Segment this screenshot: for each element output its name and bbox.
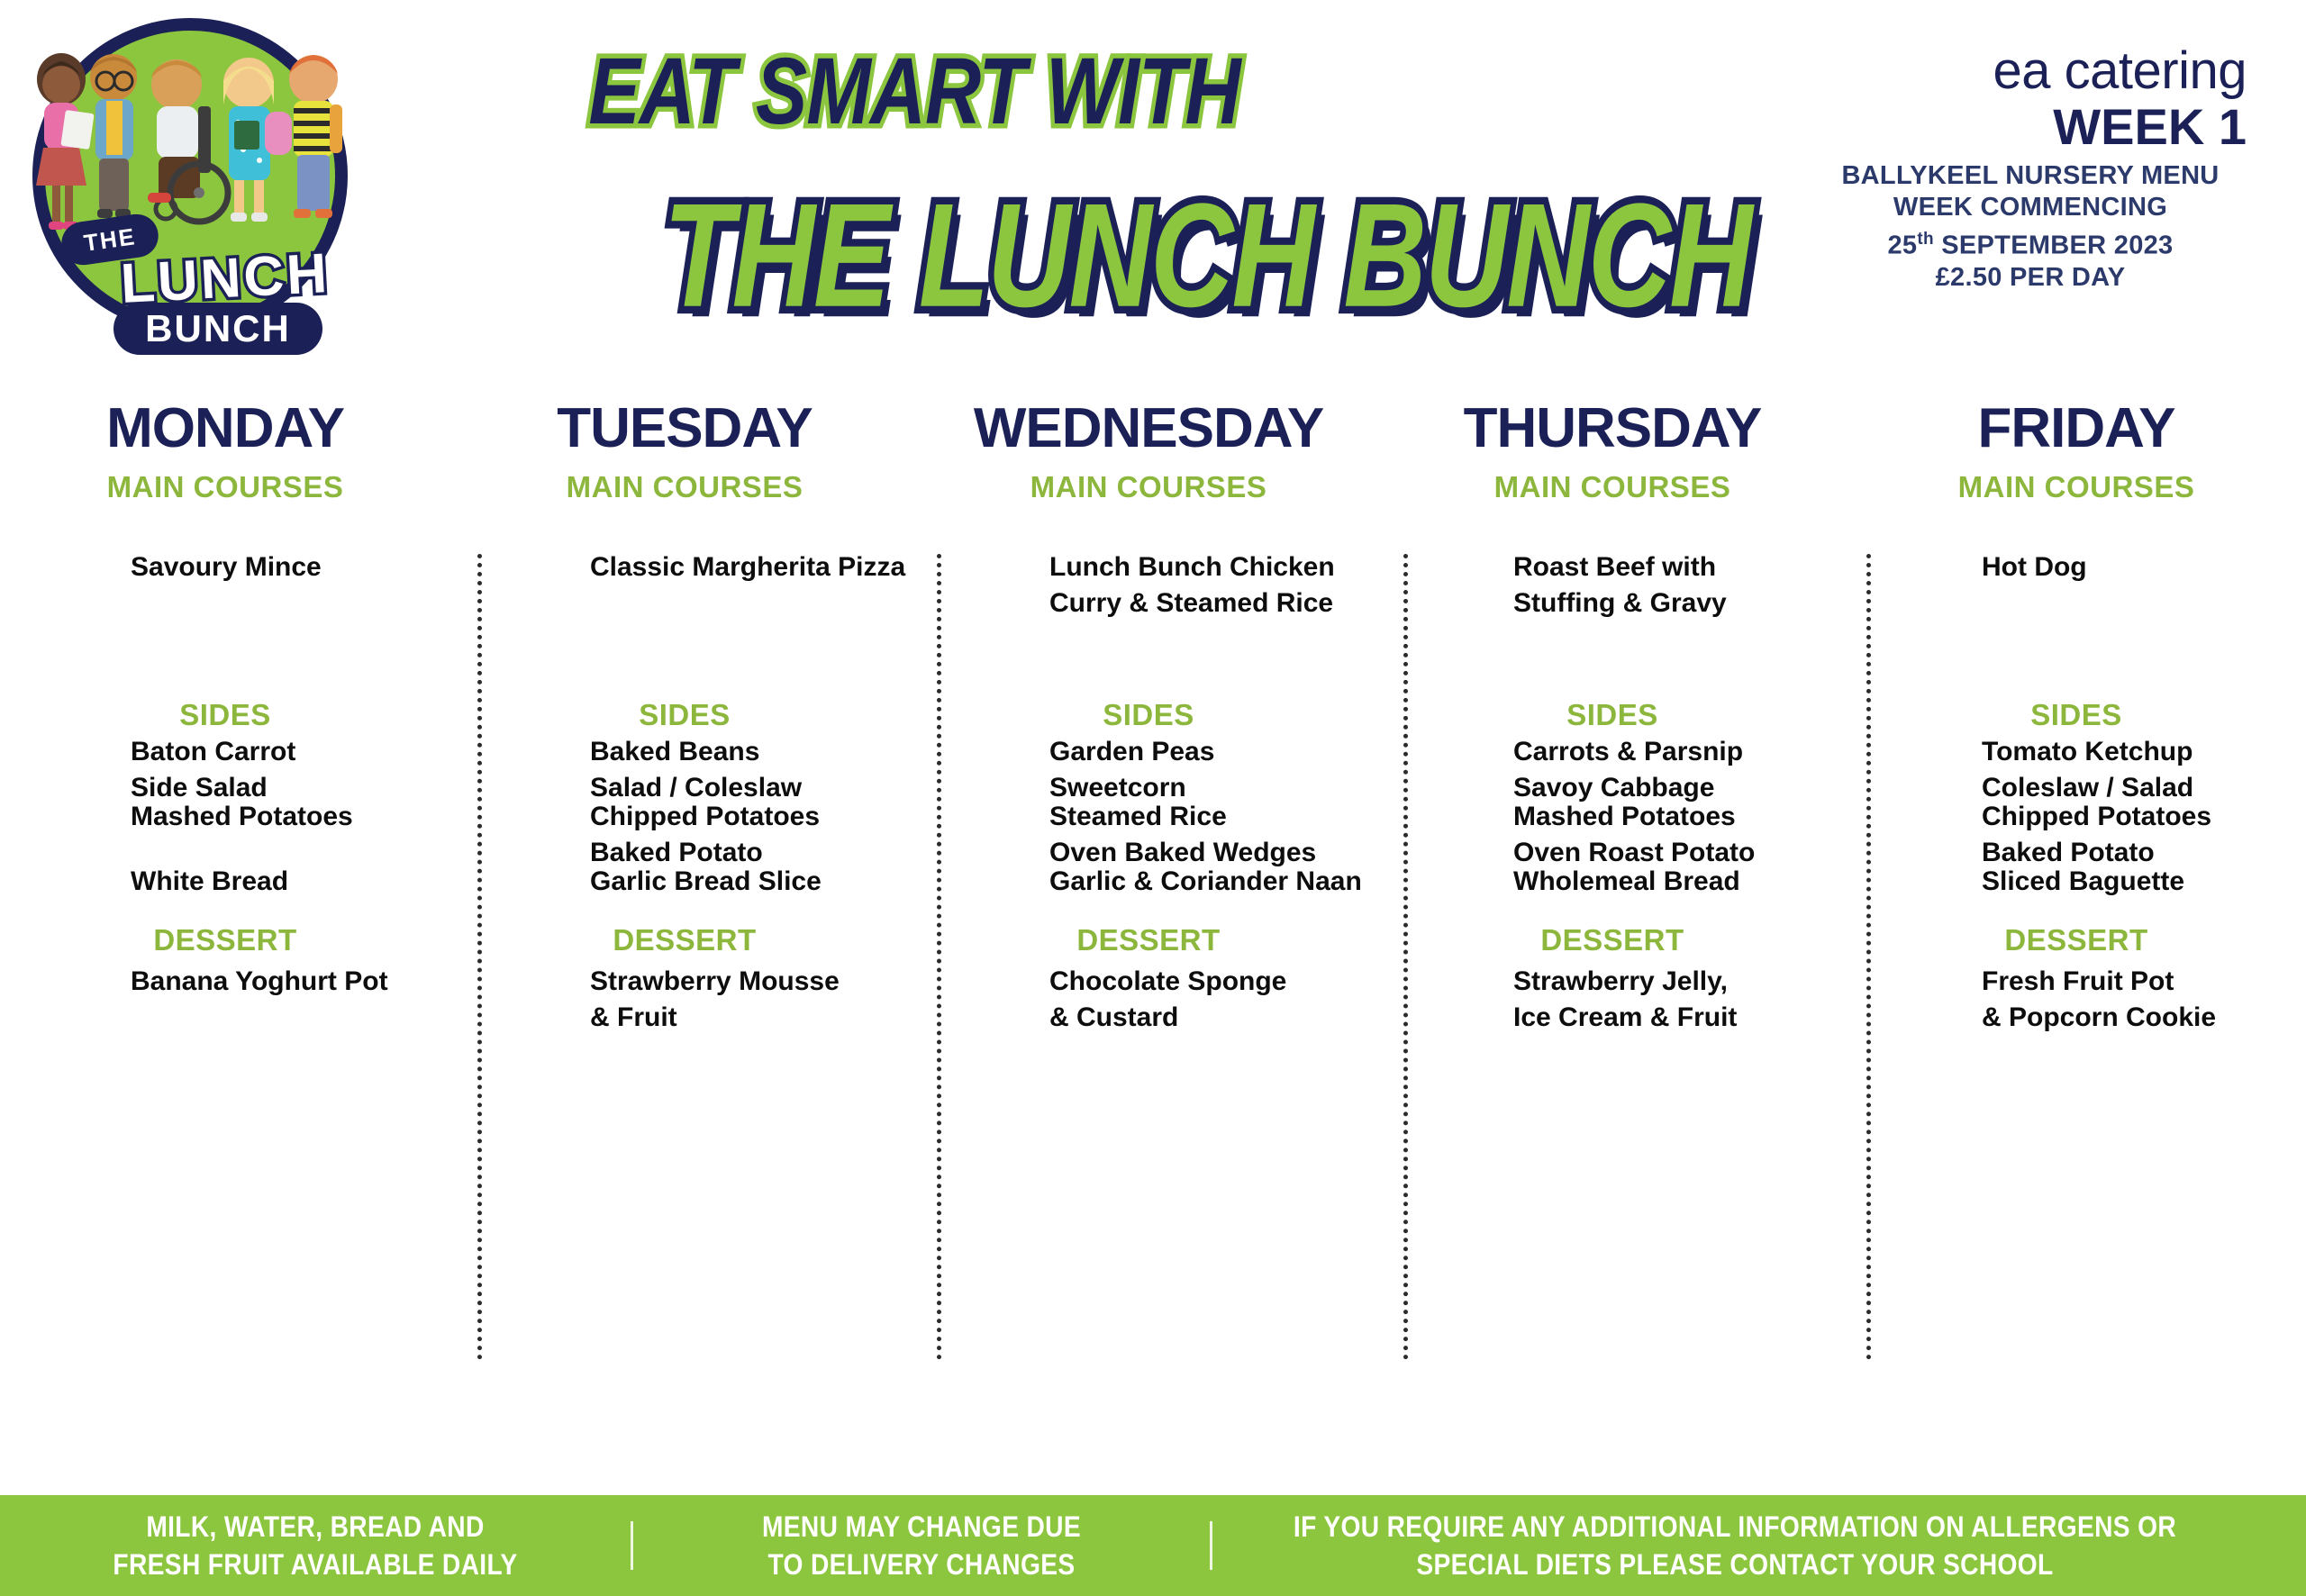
footer-divider-1 xyxy=(631,1521,633,1570)
sides-group-1: Carrots & ParsnipSavoy Cabbage xyxy=(1383,734,1842,806)
menu-item: Lunch Bunch Chicken xyxy=(919,549,1378,585)
section-label-dessert: DESSERT xyxy=(0,923,450,957)
section-label-sides: SIDES xyxy=(459,698,910,732)
footer-note3-line2: SPECIAL DIETS PLEASE CONTACT YOUR SCHOOL xyxy=(1276,1546,2195,1583)
menu-item: Chipped Potatoes xyxy=(459,799,910,835)
footer-note-menu-changes: MENU MAY CHANGE DUE TO DELIVERY CHANGES xyxy=(667,1508,1175,1583)
day-name-tuesday: TUESDAY xyxy=(459,387,910,470)
menu-item: Roast Beef with xyxy=(1383,549,1842,585)
menu-item: Banana Yoghurt Pot xyxy=(0,964,450,1000)
day-name-thursday: THURSDAY xyxy=(1383,387,1842,470)
menu-item: & Custard xyxy=(919,1000,1378,1036)
header-info-block: ea catering WEEK 1 BALLYKEEL NURSERY MEN… xyxy=(1814,43,2247,294)
section-label-main-courses: MAIN COURSES xyxy=(459,470,910,504)
footer-divider-2 xyxy=(1210,1521,1212,1570)
menu-item: Steamed Rice xyxy=(919,799,1378,835)
menu-item: Strawberry Mousse xyxy=(459,964,910,1000)
column-divider-4 xyxy=(1866,554,1871,1360)
logo-bunch-text: BUNCH xyxy=(113,303,322,355)
menu-item: Mashed Potatoes xyxy=(0,799,450,835)
section-label-dessert: DESSERT xyxy=(459,923,910,957)
dessert-items: Strawberry Mousse& Fruit xyxy=(459,964,910,1036)
menu-item: Sliced Baguette xyxy=(1851,864,2301,900)
menu-item: Chocolate Sponge xyxy=(919,964,1378,1000)
main-course-items: Savoury Mince xyxy=(0,549,450,585)
column-divider-1 xyxy=(477,554,482,1360)
day-column-wednesday: WEDNESDAYMAIN COURSESLunch Bunch Chicken… xyxy=(919,387,1378,1459)
menu-item: Garden Peas xyxy=(919,734,1378,770)
sides-group-2: Chipped PotatoesBaked Potato xyxy=(1851,799,2301,871)
main-course-items: Roast Beef withStuffing & Gravy xyxy=(1383,549,1842,621)
section-label-sides: SIDES xyxy=(0,698,450,732)
menu-item: White Bread xyxy=(0,864,450,900)
title-eat-smart-with: EAT SMART WITH xyxy=(540,38,1288,147)
school-menu-name: BALLYKEEL NURSERY MENU xyxy=(1814,160,2247,192)
title-the-lunch-bunch: THE LUNCH BUNCH xyxy=(513,171,1901,340)
sides-group-3: Garlic Bread Slice xyxy=(459,864,910,900)
day-name-wednesday: WEDNESDAY xyxy=(919,387,1378,470)
sides-group-2: Chipped PotatoesBaked Potato xyxy=(459,799,910,871)
section-label-main-courses: MAIN COURSES xyxy=(0,470,450,504)
section-label-main-courses: MAIN COURSES xyxy=(919,470,1378,504)
menu-item: & Fruit xyxy=(459,1000,910,1036)
week-commencing-date: 25th SEPTEMBER 2023 xyxy=(1814,223,2247,262)
menu-grid: MONDAYMAIN COURSESSavoury MinceSIDESBato… xyxy=(0,387,2306,1459)
day-name-friday: FRIDAY xyxy=(1851,387,2301,470)
column-divider-2 xyxy=(937,554,941,1360)
sides-group-3: Garlic & Coriander Naan xyxy=(919,864,1378,900)
sides-group-1: Baked BeansSalad / Coleslaw xyxy=(459,734,910,806)
menu-item: Mashed Potatoes xyxy=(1383,799,1842,835)
main-course-items: Hot Dog xyxy=(1851,549,2301,585)
menu-item: Hot Dog xyxy=(1851,549,2301,585)
week-commencing-label: WEEK COMMENCING xyxy=(1814,192,2247,223)
menu-item: Stuffing & Gravy xyxy=(1383,585,1842,621)
section-label-dessert: DESSERT xyxy=(1851,923,2301,957)
footer-note1-line1: MILK, WATER, BREAD AND xyxy=(38,1508,593,1546)
main-course-items: Lunch Bunch ChickenCurry & Steamed Rice xyxy=(919,549,1378,621)
section-label-sides: SIDES xyxy=(919,698,1378,732)
sides-group-1: Garden PeasSweetcorn xyxy=(919,734,1378,806)
menu-item: Classic Margherita Pizza xyxy=(459,549,910,585)
day-name-monday: MONDAY xyxy=(0,387,450,470)
day-column-friday: FRIDAYMAIN COURSESHot DogSIDESTomato Ket… xyxy=(1851,387,2301,1459)
section-label-sides: SIDES xyxy=(1851,698,2301,732)
date-month-year: SEPTEMBER 2023 xyxy=(1934,231,2174,260)
menu-item: Strawberry Jelly, xyxy=(1383,964,1842,1000)
footer-note1-line2: FRESH FRUIT AVAILABLE DAILY xyxy=(38,1546,593,1583)
date-day: 25 xyxy=(1887,231,1917,260)
footer-note2-line2: TO DELIVERY CHANGES xyxy=(667,1546,1175,1583)
lunch-bunch-logo: THE LUNCH BUNCH xyxy=(7,5,368,375)
menu-item: Savoury Mince xyxy=(0,549,450,585)
menu-item: Curry & Steamed Rice xyxy=(919,585,1378,621)
sides-group-2: Mashed PotatoesOven Roast Potato xyxy=(1383,799,1842,871)
sides-group-1: Baton CarrotSide Salad xyxy=(0,734,450,806)
sides-group-2: Steamed RiceOven Baked Wedges xyxy=(919,799,1378,871)
footer-note3-line1: IF YOU REQUIRE ANY ADDITIONAL INFORMATIO… xyxy=(1276,1508,2195,1546)
section-label-main-courses: MAIN COURSES xyxy=(1851,470,2301,504)
day-column-thursday: THURSDAYMAIN COURSESRoast Beef withStuff… xyxy=(1383,387,1842,1459)
day-column-tuesday: TUESDAYMAIN COURSESClassic Margherita Pi… xyxy=(459,387,910,1459)
footer-note-allergens: IF YOU REQUIRE ANY ADDITIONAL INFORMATIO… xyxy=(1276,1508,2195,1583)
menu-item: Garlic Bread Slice xyxy=(459,864,910,900)
dessert-items: Chocolate Sponge& Custard xyxy=(919,964,1378,1036)
sides-group-2: Mashed Potatoes xyxy=(0,799,450,835)
menu-item: Carrots & Parsnip xyxy=(1383,734,1842,770)
week-number: WEEK 1 xyxy=(1814,99,2247,155)
menu-item: Ice Cream & Fruit xyxy=(1383,1000,1842,1036)
sides-group-3: White Bread xyxy=(0,864,450,900)
section-label-sides: SIDES xyxy=(1383,698,1842,732)
date-suffix: th xyxy=(1917,230,1934,249)
menu-item: Wholemeal Bread xyxy=(1383,864,1842,900)
menu-item: & Popcorn Cookie xyxy=(1851,1000,2301,1036)
footer-note2-line1: MENU MAY CHANGE DUE xyxy=(667,1508,1175,1546)
dessert-items: Banana Yoghurt Pot xyxy=(0,964,450,1000)
section-label-main-courses: MAIN COURSES xyxy=(1383,470,1842,504)
section-label-dessert: DESSERT xyxy=(1383,923,1842,957)
page-header: THE LUNCH BUNCH EAT SMART WITH THE LUNCH… xyxy=(0,0,2306,378)
menu-item: Chipped Potatoes xyxy=(1851,799,2301,835)
sides-group-3: Sliced Baguette xyxy=(1851,864,2301,900)
section-label-dessert: DESSERT xyxy=(919,923,1378,957)
price-per-day: £2.50 PER DAY xyxy=(1814,262,2247,294)
sides-group-1: Tomato KetchupColeslaw / Salad xyxy=(1851,734,2301,806)
sides-group-3: Wholemeal Bread xyxy=(1383,864,1842,900)
footer-notes-bar: MILK, WATER, BREAD AND FRESH FRUIT AVAIL… xyxy=(0,1495,2306,1596)
day-column-monday: MONDAYMAIN COURSESSavoury MinceSIDESBato… xyxy=(0,387,450,1459)
menu-item: Baton Carrot xyxy=(0,734,450,770)
brand-ea-catering: ea catering xyxy=(1814,43,2247,99)
footer-note-daily-items: MILK, WATER, BREAD AND FRESH FRUIT AVAIL… xyxy=(38,1508,593,1583)
menu-item: Baked Beans xyxy=(459,734,910,770)
menu-item: Fresh Fruit Pot xyxy=(1851,964,2301,1000)
dessert-items: Strawberry Jelly,Ice Cream & Fruit xyxy=(1383,964,1842,1036)
dessert-items: Fresh Fruit Pot& Popcorn Cookie xyxy=(1851,964,2301,1036)
menu-item: Garlic & Coriander Naan xyxy=(919,864,1378,900)
column-divider-3 xyxy=(1403,554,1408,1360)
main-course-items: Classic Margherita Pizza xyxy=(459,549,910,585)
menu-item: Tomato Ketchup xyxy=(1851,734,2301,770)
